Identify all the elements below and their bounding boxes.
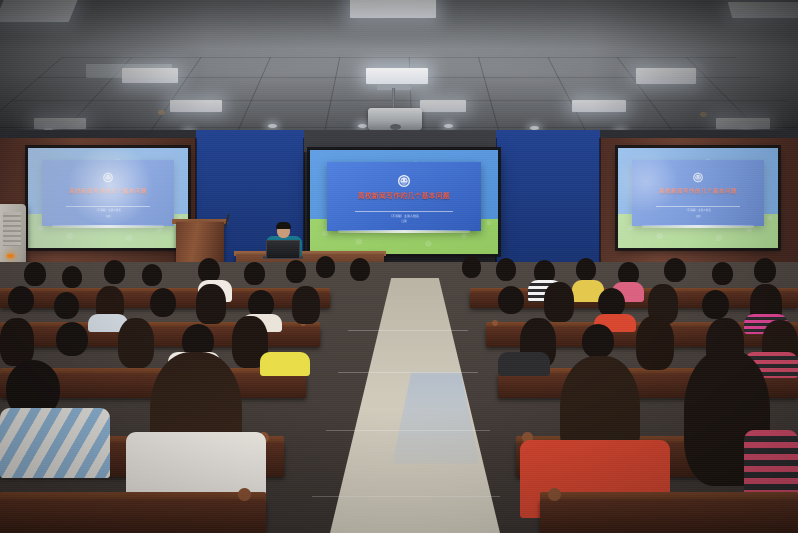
- audience-head: [104, 260, 125, 284]
- slide-subtitle-line-1: （不清晰）主讲人姓名: [333, 215, 475, 218]
- lecture-hall-photo: 高校新闻写作的几个基本问题 （不清晰）主讲人姓名 日期 高校新闻写作的几: [0, 0, 798, 533]
- center-projection-screen: 高校新闻写作的几个基本问题 （不清晰）主讲人姓名 日期: [310, 150, 498, 254]
- air-conditioner-indicator-light: [7, 254, 14, 258]
- audience-hair: [118, 318, 154, 368]
- slide-subtitle-line-2: 日期: [333, 221, 475, 224]
- bench-end-knob: [492, 320, 498, 326]
- slide-panel-base: [642, 225, 755, 228]
- audience-head: [54, 292, 79, 319]
- audience-hair: [196, 284, 226, 324]
- striped-blue-shirt-attendee: [0, 408, 110, 478]
- floor-tile-line: [348, 330, 468, 331]
- university-crest-emblem: [396, 173, 412, 194]
- slide-content-panel: 高校新闻写作的几个基本问题 （不清晰）主讲人姓名 日期: [327, 162, 481, 231]
- audience-head: [56, 322, 88, 356]
- slide-divider-rule: [355, 211, 454, 212]
- presenter-laptop: [266, 240, 300, 259]
- floor-tile-line: [338, 372, 478, 373]
- slide-subtitle-line-2: 日期: [48, 216, 169, 218]
- slide-subtitle-line-2: 日期: [638, 216, 759, 218]
- audience-torso: [498, 352, 550, 376]
- audience-head: [664, 258, 686, 282]
- audience-head: [702, 290, 729, 319]
- bench-end-knob: [548, 488, 561, 501]
- screen-valance: [304, 130, 496, 152]
- audience-head: [598, 288, 625, 317]
- slide-content-panel: 高校新闻写作的几个基本问题 （不清晰）主讲人姓名 日期: [632, 160, 763, 226]
- audience-head: [712, 262, 733, 285]
- slide-panel-base: [338, 230, 471, 233]
- slide-content-panel: 高校新闻写作的几个基本问题 （不清晰）主讲人姓名 日期: [42, 160, 173, 226]
- audience-head: [496, 258, 516, 281]
- floor-tile-line: [326, 430, 490, 431]
- wooden-lectern: [176, 222, 224, 264]
- audience-head: [286, 260, 306, 283]
- audience-hair: [544, 282, 574, 322]
- audience-head: [754, 258, 776, 283]
- audience-head: [576, 258, 596, 281]
- slide-panel-base: [52, 225, 165, 228]
- audience-head: [150, 288, 176, 317]
- audience-hair: [636, 316, 674, 370]
- audience-head: [244, 262, 265, 285]
- air-conditioner-vent: [3, 212, 21, 246]
- bench-end-knob: [238, 488, 251, 501]
- audience-hair: [0, 318, 34, 366]
- slide-title: 高校新闻写作的几个基本问题: [638, 190, 759, 196]
- audience-head: [498, 286, 524, 314]
- bench-back: [0, 500, 266, 533]
- audience-head: [62, 266, 82, 288]
- bench-back: [540, 500, 798, 533]
- audience-head: [582, 324, 614, 358]
- audience-head: [142, 264, 162, 286]
- wall-panel-divider: [599, 138, 601, 280]
- audience-hair: [292, 286, 320, 324]
- audience-head: [24, 262, 46, 286]
- slide-subtitle-line-1: （不清晰）主讲人姓名: [48, 210, 169, 213]
- audience-head: [462, 256, 481, 278]
- presenter-hair: [276, 222, 291, 229]
- audience-torso: [260, 352, 310, 376]
- audience-head: [350, 258, 370, 281]
- slide-title: 高校新闻写作的几个基本问题: [48, 190, 169, 196]
- university-crest-emblem: [691, 171, 704, 189]
- left-projection-screen: 高校新闻写作的几个基本问题 （不清晰）主讲人姓名 日期: [28, 148, 188, 248]
- slide-subtitle-line-1: （不清晰）主讲人姓名: [638, 210, 759, 213]
- slide-divider-rule: [66, 206, 150, 207]
- floor-tile-line: [312, 496, 500, 497]
- slide-divider-rule: [656, 206, 740, 207]
- slide-title: 高校新闻写作的几个基本问题: [333, 194, 475, 201]
- university-crest-emblem: [101, 171, 114, 189]
- right-projection-screen: 高校新闻写作的几个基本问题 （不清晰）主讲人姓名 日期: [618, 148, 778, 248]
- audience-head: [316, 256, 335, 278]
- audience-head: [8, 286, 34, 314]
- audience-torso: [744, 430, 798, 500]
